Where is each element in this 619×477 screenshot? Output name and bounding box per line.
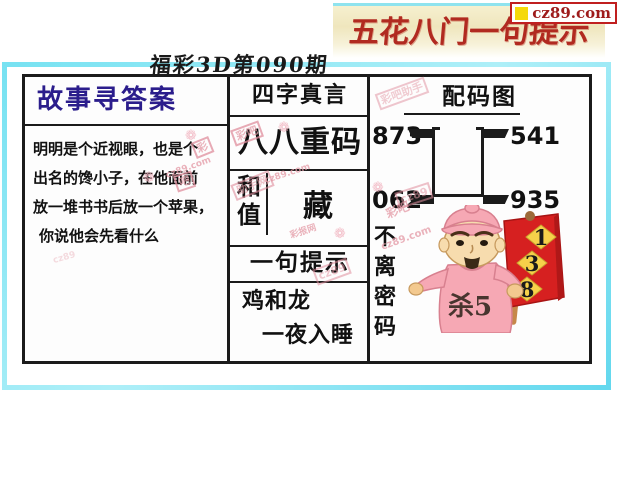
svg-text:3: 3 (525, 251, 540, 276)
connector-arrow-top-right (483, 129, 509, 138)
hint-line-2: 一夜入睡 (262, 321, 354, 351)
vertical-motto: 不 离 密 码 (372, 223, 398, 343)
pairing-heading-underline (404, 113, 520, 115)
motto-char-3: 密 (372, 283, 398, 313)
sum-label: 和值 (234, 173, 264, 229)
connector-arrow-bottom-right (483, 195, 509, 204)
four-word-value: 八八重码 (230, 121, 370, 165)
issue-subtitle: 福彩3D第090期 (149, 52, 382, 78)
mid-heading-four-word: 四字真言 (230, 83, 370, 109)
mid-panel-oracle: 四字真言 八八重码 和值 藏 一句提示 鸡和龙 一夜入睡 彩吧 ❁ cz89.c… (230, 77, 370, 361)
svg-text:1: 1 (534, 225, 549, 250)
pairing-box-top-right-stub (476, 127, 484, 130)
watermark-stamp: cz89 (52, 250, 77, 267)
badge-domain-text: cz89.com (532, 6, 611, 21)
story-panel-title: 故事寻答案 (37, 85, 177, 115)
connector-arrow-top-left (408, 129, 434, 138)
story-body: 明明是个近视眼，也是个 出名的馋小子，在他面前 放一堆书书后放一个苹果， 你说他… (33, 135, 225, 251)
pairing-center-box (432, 127, 484, 197)
story-line-3: 放一堆书书后放一个苹果， (33, 193, 225, 222)
mid-divider-3 (230, 245, 370, 247)
mascot-illustration: 1 3 8 (408, 205, 588, 333)
cz89-watermark-badge: cz89.com (510, 2, 617, 24)
right-panel-pairing-chart: 配码图 873 541 062 935 不 离 密 码 (370, 77, 589, 361)
badge-swatch-icon (515, 7, 528, 20)
mid-divider-1 (230, 115, 370, 117)
motto-char-2: 离 (372, 253, 398, 283)
story-line-2: 出名的馋小子，在他面前 (33, 164, 225, 193)
pairing-chart-heading: 配码图 (370, 83, 589, 111)
content-frame: 故事寻答案 明明是个近视眼，也是个 出名的馋小子，在他面前 放一堆书书后放一个苹… (22, 74, 592, 364)
mid-heading-hint: 一句提示 (230, 249, 370, 277)
pair-number-top-right: 541 (510, 123, 560, 149)
mid-divider-2 (230, 169, 370, 171)
story-line-4: 你说他会先看什么 (33, 222, 225, 251)
motto-char-4: 码 (372, 313, 398, 343)
connector-arrow-bottom-left (408, 195, 434, 204)
mid-divider-4 (230, 281, 370, 283)
watermark-stamp: cz89.com (263, 162, 312, 187)
hide-word-value: 藏 (268, 187, 368, 227)
svg-text:杀5: 杀5 (448, 291, 492, 322)
flower-stamp-icon: ❁ (334, 227, 346, 241)
story-line-1: 明明是个近视眼，也是个 (33, 135, 225, 164)
motto-char-1: 不 (372, 223, 398, 253)
story-title-divider (25, 124, 230, 126)
left-panel-story: 故事寻答案 明明是个近视眼，也是个 出名的馋小子，在他面前 放一堆书书后放一个苹… (25, 77, 230, 361)
hint-line-1: 鸡和龙 (242, 287, 311, 317)
